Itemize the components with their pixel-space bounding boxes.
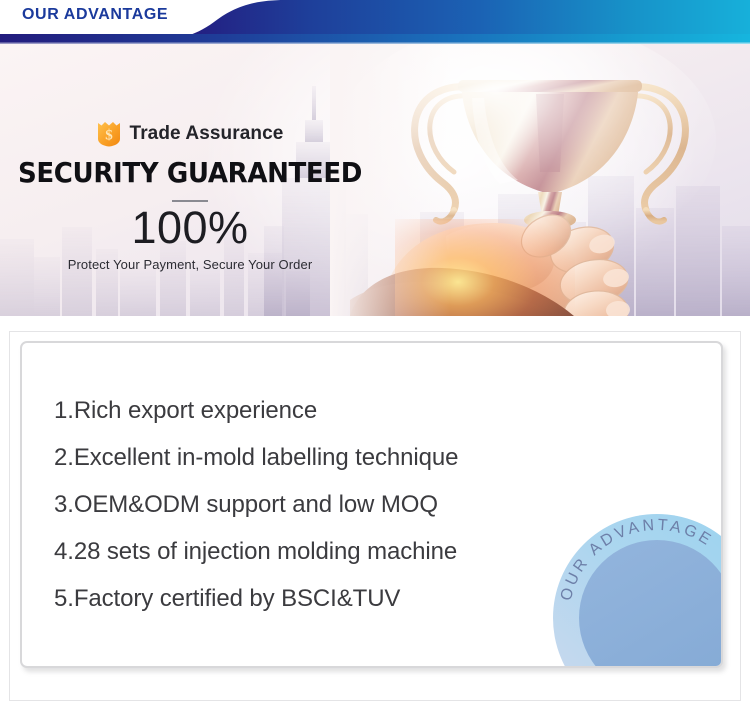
- list-item: 2.Excellent in-mold labelling technique: [54, 434, 458, 481]
- advantage-list: 1.Rich export experience 2.Excellent in-…: [54, 387, 458, 622]
- list-item: 5.Factory certified by BSCI&TUV: [54, 575, 458, 622]
- svg-text:OUR ADVANTAGE: OUR ADVANTAGE: [558, 517, 716, 603]
- percent-value: 100%: [0, 204, 380, 251]
- list-item: 4.28 sets of injection molding machine: [54, 528, 458, 575]
- watermark-text: OUR ADVANTAGE: [558, 517, 716, 603]
- security-guaranteed-headline: SECURITY GUARANTEED: [13, 156, 366, 189]
- svg-text:$: $: [105, 128, 113, 144]
- list-item: 1.Rich export experience: [54, 387, 458, 434]
- trade-assurance-label: Trade Assurance: [130, 123, 284, 145]
- advantage-card: OUR ADVANTAGE 1.Rich export experience 2…: [20, 341, 723, 668]
- trade-assurance-row: $ Trade Assurance: [0, 120, 380, 147]
- page-title: OUR ADVANTAGE: [22, 6, 168, 24]
- trade-assurance-banner: $ Trade Assurance SECURITY GUARANTEED 10…: [0, 44, 750, 316]
- shield-dollar-icon: $: [97, 120, 121, 147]
- hands-holding-trophy-photo: [350, 44, 750, 316]
- page-header: OUR ADVANTAGE: [0, 0, 750, 44]
- trade-assurance-text-block: $ Trade Assurance SECURITY GUARANTEED 10…: [0, 44, 380, 272]
- our-advantage-watermark: OUR ADVANTAGE: [547, 508, 723, 668]
- banner-subtitle: Protect Your Payment, Secure Your Order: [0, 257, 380, 272]
- list-item: 3.OEM&ODM support and low MOQ: [54, 481, 458, 528]
